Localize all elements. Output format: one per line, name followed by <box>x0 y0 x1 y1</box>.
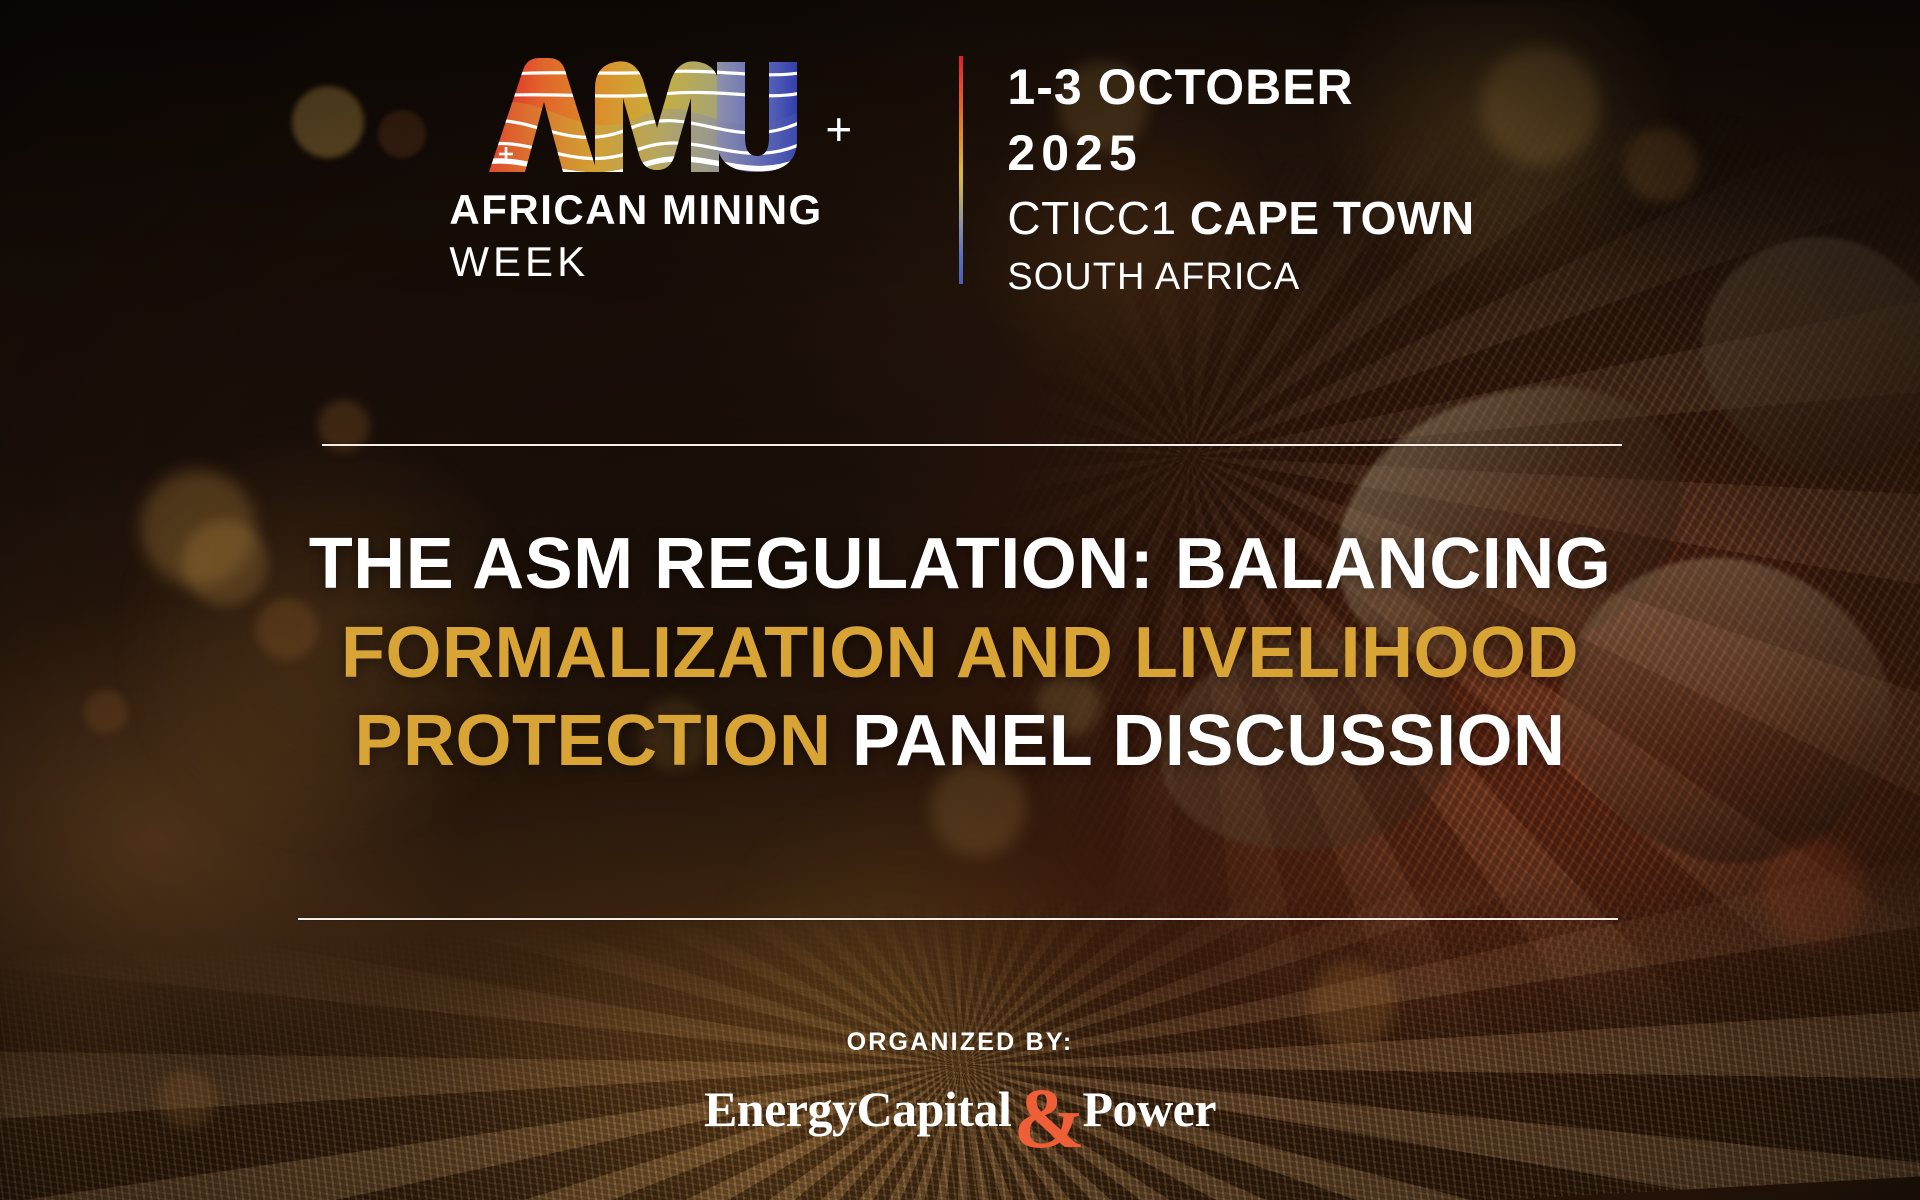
event-promo-poster: + AFRICAN MINING WEEK 1-3 OCTOBER 2025 C… <box>0 0 1920 1200</box>
event-details-block: 1-3 OCTOBER 2025 CTICC1 CAPE TOWN SOUTH … <box>1007 48 1474 302</box>
session-title-line-1: THE ASM REGULATION: BALANCING <box>90 520 1830 609</box>
divider-line-bottom <box>298 918 1618 920</box>
divider-line-top <box>322 444 1622 446</box>
session-title-line-3-gold: PROTECTION <box>355 701 853 781</box>
event-venue: CTICC1 CAPE TOWN <box>1007 188 1474 249</box>
ecp-logo-power: Power <box>1083 1084 1217 1134</box>
ecp-logo-capital: Capital <box>857 1084 1012 1134</box>
poster-header: + AFRICAN MINING WEEK 1-3 OCTOBER 2025 C… <box>0 48 1920 302</box>
organizer-block: ORGANIZED BY: EnergyCapital&Power <box>0 1028 1920 1144</box>
venue-name: CTICC1 <box>1007 192 1189 244</box>
plus-separator-icon: + <box>825 106 852 174</box>
ecp-logo-energy: Energy <box>704 1084 857 1134</box>
energy-capital-power-logo: EnergyCapital&Power <box>0 1077 1920 1144</box>
event-country: SOUTH AFRICA <box>1007 253 1474 302</box>
poster-content: + AFRICAN MINING WEEK 1-3 OCTOBER 2025 C… <box>0 0 1920 1200</box>
brand-name-line-2: WEEK <box>445 240 589 284</box>
ecp-logo-ampersand: & <box>1013 1085 1084 1152</box>
brand-block: + AFRICAN MINING WEEK <box>445 48 925 284</box>
session-title-line-3-white: PANEL DISCUSSION <box>852 701 1565 781</box>
logo-row: + <box>445 54 852 174</box>
event-date: 1-3 OCTOBER 2025 <box>1007 54 1474 186</box>
brand-name-line-1: AFRICAN MINING <box>445 188 822 232</box>
event-year: 2025 <box>1007 120 1474 186</box>
session-title: THE ASM REGULATION: BALANCING FORMALIZAT… <box>0 520 1920 786</box>
header-gradient-divider <box>959 56 963 284</box>
session-title-line-2: FORMALIZATION AND LIVELIHOOD <box>90 609 1830 698</box>
venue-city: CAPE TOWN <box>1190 192 1475 244</box>
session-title-line-3: PROTECTION PANEL DISCUSSION <box>90 697 1830 786</box>
event-date-text: 1-3 OCTOBER <box>1007 59 1353 115</box>
organized-by-label: ORGANIZED BY: <box>0 1028 1920 1057</box>
amw-wave-logo-icon <box>445 54 805 174</box>
